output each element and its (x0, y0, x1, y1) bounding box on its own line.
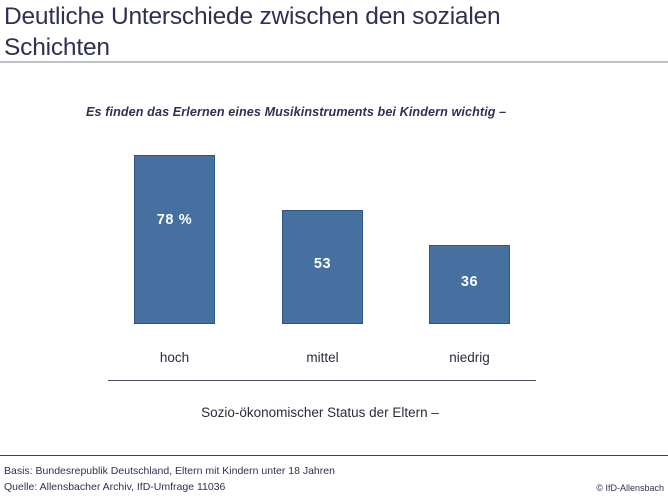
x-axis-title: Sozio-ökonomischer Status der Eltern – (0, 405, 640, 420)
footer-source-note: Quelle: Allensbacher Archiv, IfD-Umfrage… (4, 481, 225, 493)
bar-hoch: 78 % (134, 155, 215, 324)
x-tick-label-mittel: mittel (282, 350, 363, 365)
bar-mittel: 53 (282, 210, 363, 324)
footer-divider (0, 455, 668, 456)
bar-niedrig: 36 (429, 245, 510, 324)
bar-value-hoch: 78 % (135, 212, 214, 228)
x-axis-line (108, 380, 536, 381)
header: Deutliche Unterschiede zwischen den sozi… (0, 0, 668, 62)
footer: Basis: Bundesrepublik Deutschland, Elter… (0, 455, 668, 499)
chart-container: Es finden das Erlernen eines Musikinstru… (0, 62, 668, 447)
x-tick-label-hoch: hoch (134, 350, 215, 365)
bar-value-niedrig: 36 (430, 274, 509, 290)
bar-value-mittel: 53 (283, 256, 362, 272)
footer-copyright: © IfD-Allensbach (596, 483, 664, 493)
footer-basis-note: Basis: Bundesrepublik Deutschland, Elter… (4, 465, 335, 477)
bar-chart-plot: 78 % 53 36 hoch mittel niedrig Sozio-öko… (0, 62, 668, 447)
page-title: Deutliche Unterschiede zwischen den sozi… (4, 1, 644, 63)
x-tick-label-niedrig: niedrig (429, 350, 510, 365)
